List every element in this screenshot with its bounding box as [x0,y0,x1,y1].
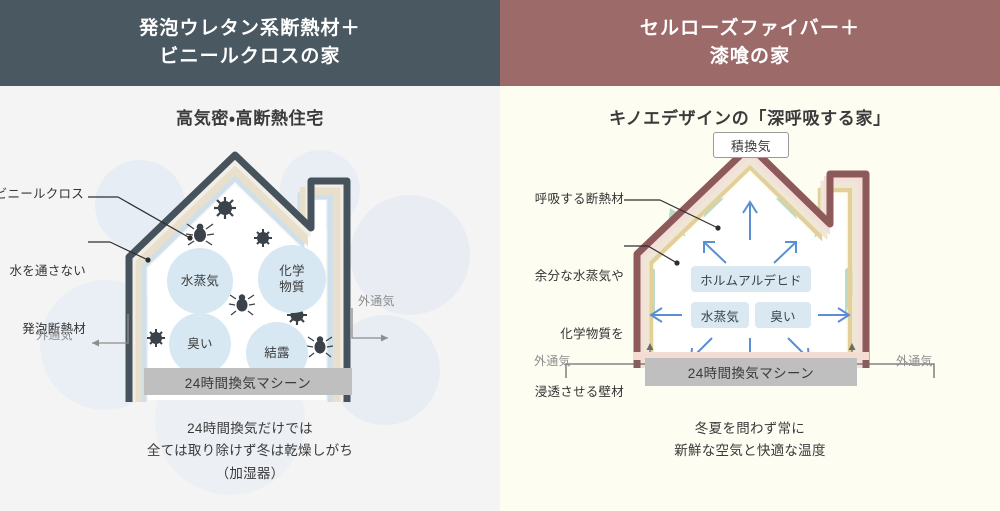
right-header-line2: 漆喰の家 [640,43,860,71]
label-outside-air-right: 外通気 [896,352,933,370]
label-wall-material-line2: 化学物質を [504,325,624,344]
bubble-odor: 臭い [169,313,231,375]
left-header-line2: ビニールクロスの家 [139,43,361,71]
right-caption-line1: 冬夏を問わず常に [500,418,1000,440]
label-foam-insulation-line1: 水を通さない [0,262,86,281]
left-caption: 24時間換気だけでは 全ては取り除けず冬は乾燥しがち （加湿器） [0,418,500,485]
left-panel-header: 発泡ウレタン系断熱材＋ ビニールクロスの家 [0,0,500,86]
label-wall-material-line3: 浸透させる壁材 [504,383,624,402]
left-caption-line3: （加湿器） [0,463,500,485]
leader-dot-foam [145,257,150,262]
leader-dot-insulation [715,225,720,230]
left-subtitle: 高気密・高断熱住宅 [0,104,500,129]
leader-dot-vinyl [187,235,192,240]
bubble-chemical-substance: 化学 物質 [258,245,326,313]
bubble-water-vapor: 水蒸気 [167,248,233,314]
ventilation-machine-right: 24時間換気マシーン [645,358,857,386]
label-vinyl-cloth: ビニールクロス [0,185,84,204]
outside-air-path-right [352,308,388,338]
left-caption-line1: 24時間換気だけでは [0,418,500,440]
label-outside-air-left: 外通気 [36,326,73,344]
bubble-chemical-line2: 物質 [279,279,305,295]
right-caption-line2: 新鮮な空気と快適な温度 [500,440,1000,462]
chip-water-vapor: 水蒸気 [691,302,749,328]
right-diagram: 積換気 呼吸する断熱材 余分な水蒸気や 化学物質を 浸透させる壁材 外通気 外通… [500,140,1000,430]
bubble-chemical-line1: 化学 [279,263,305,279]
label-outside-air-right: 外通気 [358,292,395,310]
right-panel: セルローズファイバー＋ 漆喰の家 キノエデザインの「深呼吸する家」 [500,0,1000,511]
outside-air-arrowhead-left [92,340,99,347]
right-header-line1: セルローズファイバー＋ [640,15,860,43]
germ-icon [214,197,236,219]
chip-formaldehyde: ホルムアルデヒド [691,266,811,292]
ventilation-machine-left: 24時間換気マシーン [144,368,352,395]
left-header-line1: 発泡ウレタン系断熱材＋ [139,15,361,43]
leader-dot-wall [674,260,679,265]
right-subtitle: キノエデザインの「深呼吸する家」 [500,104,1000,129]
outside-air-path-left [92,314,128,343]
label-outside-air-left: 外通気 [534,352,571,370]
left-caption-line2: 全ては取り除けず冬は乾燥しがち [0,440,500,462]
chip-odor: 臭い [755,302,811,328]
label-breathing-insulation: 呼吸する断熱材 [508,190,624,209]
label-foam-insulation: 水を通さない 発泡断熱材 [0,223,86,378]
label-wall-material: 余分な水蒸気や 化学物質を 浸透させる壁材 [504,228,624,441]
outside-air-arrowhead-right [381,335,388,342]
comparison-infographic: 発泡ウレタン系断熱材＋ ビニールクロスの家 高気密・高断熱住宅 [0,0,1000,511]
left-diagram: ビニールクロス 水を通さない 発泡断熱材 外通気 外通気 水蒸気 化学 物質 臭… [0,140,500,430]
right-panel-header: セルローズファイバー＋ 漆喰の家 [500,0,1000,86]
ridge-ventilation-badge: 積換気 [713,132,789,158]
right-caption: 冬夏を問わず常に 新鮮な空気と快適な温度 [500,418,1000,463]
label-wall-material-line1: 余分な水蒸気や [504,267,624,286]
left-panel: 発泡ウレタン系断熱材＋ ビニールクロスの家 高気密・高断熱住宅 [0,0,500,511]
